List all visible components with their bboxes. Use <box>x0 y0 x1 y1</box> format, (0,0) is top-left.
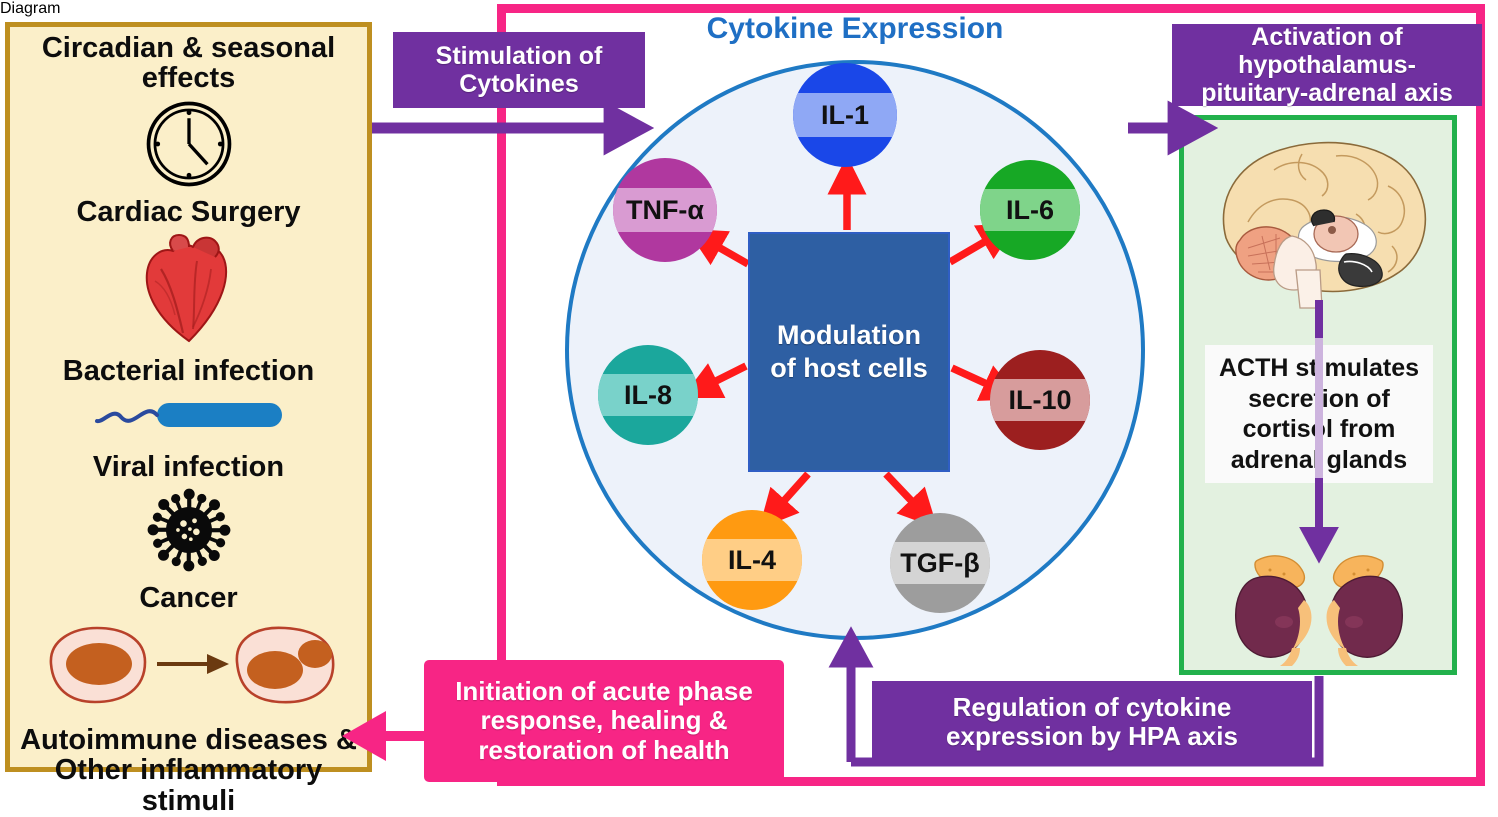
cytokine-label-tnfa: TNF-α <box>626 195 704 226</box>
cytokine-label-tgfb: TGF-β <box>900 548 979 579</box>
brain-sagittal-icon <box>1196 130 1444 315</box>
label-stimulation-of-cytokines: Stimulation ofCytokines <box>393 32 645 108</box>
stimuli-label-viral: Viral infection <box>10 452 367 482</box>
cytokine-label-il1: IL-1 <box>821 100 869 131</box>
cytokine-label-il6: IL-6 <box>1006 195 1054 226</box>
heart-icon <box>137 229 241 352</box>
bacterium-icon <box>89 397 289 438</box>
label-activation-text: Activation of hypothalamus-pituitary-adr… <box>1172 23 1482 107</box>
cytokine-node-il8: IL-8 <box>598 345 698 445</box>
cytokine-node-il1: IL-1 <box>793 63 897 167</box>
cytokine-node-il10: IL-10 <box>990 350 1090 450</box>
stimuli-panel: Circadian & seasonal effects Cardiac Sur… <box>5 22 372 772</box>
label-activation-hpa-axis: Activation of hypothalamus-pituitary-adr… <box>1172 24 1482 106</box>
cancer-cell-division-icon <box>29 618 349 715</box>
stimuli-label-cancer: Cancer <box>10 583 367 613</box>
stimuli-label-autoimmune-line2: Other inflammatory stimuli <box>10 755 367 816</box>
virus-icon <box>143 484 235 581</box>
host-box-label: Modulationof host cells <box>770 319 928 385</box>
stimuli-label-autoimmune-line1: Autoimmune diseases & <box>10 725 367 755</box>
label-regulation-text: Regulation of cytokineexpression by HPA … <box>946 693 1238 751</box>
label-regulation-by-hpa-axis: Regulation of cytokineexpression by HPA … <box>872 681 1312 763</box>
acth-note-text: ACTH stimulatessecretion ofcortisol from… <box>1219 354 1419 474</box>
label-stimulation-text: Stimulation ofCytokines <box>436 42 603 98</box>
adrenal-kidneys-icon <box>1228 548 1410 673</box>
acth-note-box: ACTH stimulatessecretion ofcortisol from… <box>1205 345 1433 483</box>
cytokine-label-il8: IL-8 <box>624 380 672 411</box>
stimuli-label-circadian: Circadian & seasonal effects <box>10 33 367 94</box>
clock-icon <box>143 98 235 195</box>
stimuli-label-cardiac-surgery: Cardiac Surgery <box>10 197 367 227</box>
cytokine-node-il4: IL-4 <box>702 510 802 610</box>
cytokine-node-tgfb: TGF-β <box>890 513 990 613</box>
cytokine-label-il4: IL-4 <box>728 545 776 576</box>
label-acute-phase-response: Initiation of acute phaseresponse, heali… <box>424 660 784 782</box>
cytokine-expression-title: Cytokine Expression <box>600 12 1110 46</box>
cytokine-node-tnfa: TNF-α <box>613 158 717 262</box>
modulation-of-host-cells-box: Modulationof host cells <box>748 232 950 472</box>
label-acute-phase-text: Initiation of acute phaseresponse, heali… <box>455 677 753 766</box>
stimuli-label-bacterial: Bacterial infection <box>10 356 367 386</box>
cytokine-node-il6: IL-6 <box>980 160 1080 260</box>
cytokine-label-il10: IL-10 <box>1008 385 1071 416</box>
